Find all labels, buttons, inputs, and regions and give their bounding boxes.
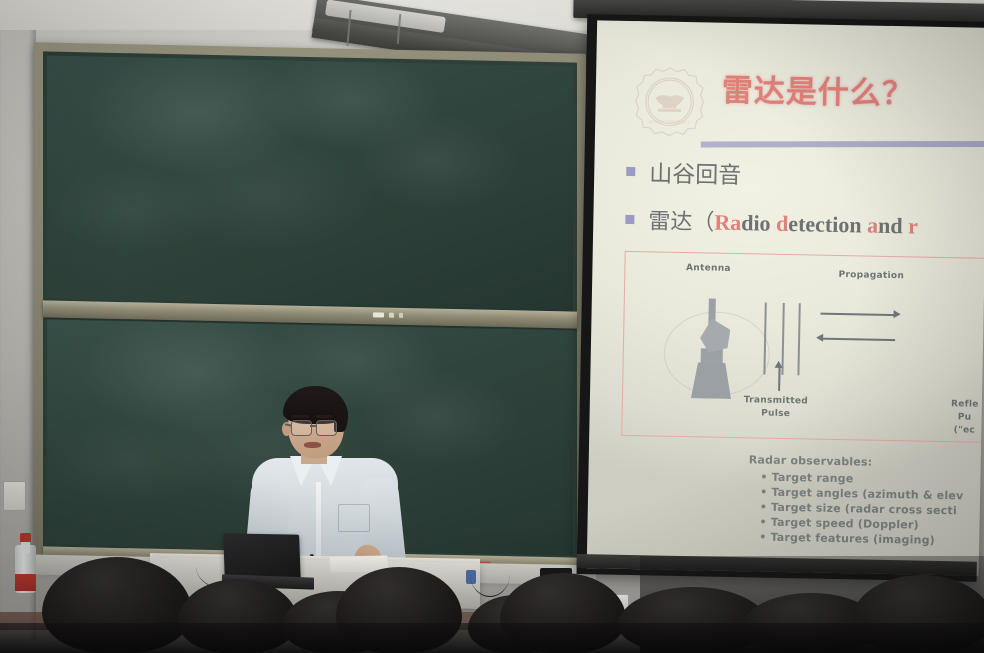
- audience-silhouettes: [0, 560, 984, 653]
- chalk-piece: [389, 313, 394, 318]
- eyebrow-right: [316, 415, 332, 418]
- bottle-neck: [21, 541, 30, 553]
- observables-heading: Radar observables:: [749, 453, 984, 471]
- title-underline-rule: [701, 141, 984, 148]
- slide-content: HENAN UNIVERSITY 雷达是什么？ 山谷回音: [587, 20, 984, 575]
- radar-acronym: Radio detection and r: [714, 210, 918, 239]
- diagram-label-transmitted-pulse: TransmittedPulse: [735, 394, 817, 422]
- light-switch[interactable]: [3, 481, 26, 511]
- antenna-icon: [681, 293, 743, 399]
- mouth: [304, 442, 321, 448]
- observables-item: • Target features (imaging): [759, 530, 982, 549]
- wavefront-line: [797, 303, 800, 375]
- radar-observables-list: Radar observables: • Target range • Targ…: [747, 453, 984, 548]
- slide-bullet-1-text: 山谷回音: [649, 154, 742, 190]
- slide-bullet-2-text: 雷达（Radio detection and r: [648, 203, 918, 240]
- bottle-cap: [20, 533, 31, 542]
- bullet-marker-icon: [625, 214, 634, 223]
- glasses-lens-right: [316, 420, 337, 436]
- svg-text:HENAN UNIVERSITY: HENAN UNIVERSITY: [648, 119, 690, 125]
- chalk-piece: [399, 313, 403, 318]
- propagation-arrow-forward: [821, 313, 896, 316]
- arrow-head-up-icon: [775, 361, 783, 368]
- bullet-2-prefix: 雷达（: [648, 209, 714, 235]
- arrow-head-left-icon: [816, 334, 823, 342]
- bullet-marker-icon: [626, 166, 635, 175]
- diagram-label-propagation: Propagation: [821, 270, 921, 282]
- chalk-piece: [373, 312, 384, 317]
- slide-bullet-2: 雷达（Radio detection and r: [625, 203, 918, 241]
- university-seal-icon: HENAN UNIVERSITY: [633, 65, 706, 138]
- projector-screen: HENAN UNIVERSITY 雷达是什么？ 山谷回音: [570, 0, 984, 596]
- glasses-bridge: [310, 425, 316, 427]
- diagram-label-reflected-pulse: ReflePu("ec: [922, 398, 984, 439]
- shirt-pocket: [338, 504, 370, 532]
- glasses-lens-left: [291, 420, 312, 436]
- projected-slide: HENAN UNIVERSITY 雷达是什么？ 山谷回音: [587, 20, 984, 575]
- slide-bullet-1: 山谷回音: [626, 154, 742, 190]
- eyebrow-left: [292, 415, 309, 418]
- audience-shoulders: [0, 623, 984, 653]
- transmitted-pulse-arrow: [778, 365, 780, 391]
- slide-title: 雷达是什么？: [721, 65, 914, 114]
- radar-diagram: Antenna Propagation: [621, 251, 984, 443]
- lecture-hall-photo: HENAN UNIVERSITY 雷达是什么？ 山谷回音: [0, 0, 984, 653]
- antenna-base: [691, 362, 732, 399]
- chalkboard-panel-upper: [47, 55, 573, 311]
- diagram-label-antenna: Antenna: [673, 263, 743, 274]
- screen-frame: HENAN UNIVERSITY 雷达是什么？ 山谷回音: [577, 14, 984, 582]
- arrow-head-right-icon: [894, 310, 901, 318]
- propagation-arrow-backward: [820, 338, 895, 341]
